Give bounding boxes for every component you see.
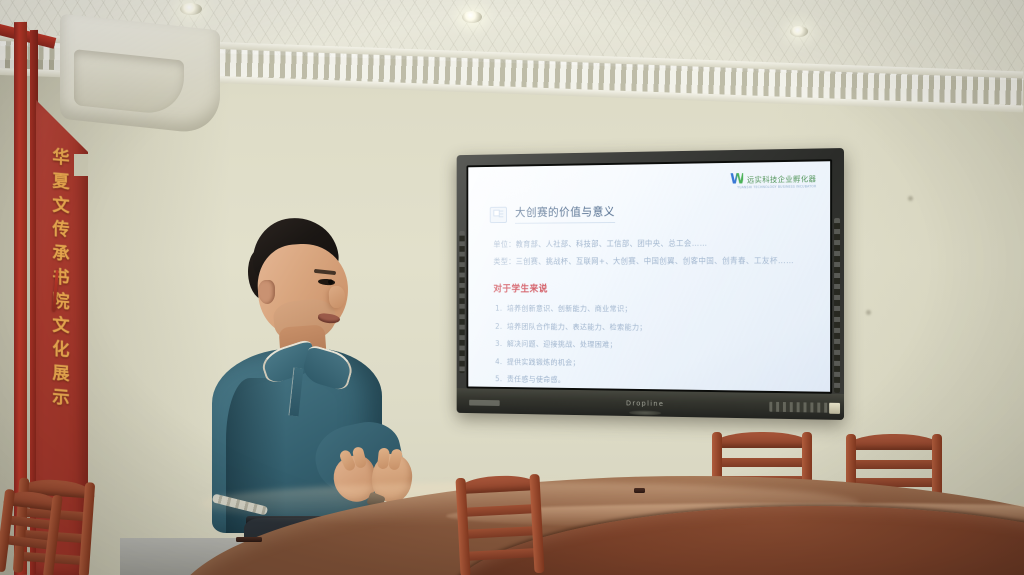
display-brand-label: Dropline [626, 399, 664, 407]
display-screen[interactable]: W 远实科技企业孵化器 YUANSHI TECHNOLOGY BUSINESS … [468, 161, 830, 392]
ear [258, 280, 275, 304]
ceiling-downlight [462, 11, 482, 23]
wall-blemish [908, 196, 913, 201]
banner-characters: 华 夏 文 传 承 书 院 文 化 展 示 [38, 148, 84, 409]
smart-display[interactable]: W 远实科技企业孵化器 YUANSHI TECHNOLOGY BUSINESS … [457, 148, 844, 420]
chair-slat [462, 504, 536, 517]
banner-char: 化 [53, 341, 70, 359]
display-side-logo [469, 400, 500, 406]
banner-char: 传 [53, 221, 70, 239]
slide-subheading: 对于学生来说 [493, 281, 547, 294]
list-number: 2. [495, 322, 502, 331]
slide-title: 大创赛的价值与意义 [515, 204, 615, 224]
chair[interactable] [0, 489, 63, 575]
list-item: 5.责任感与使命感。 [495, 374, 647, 387]
list-text: 培养团队合作能力、表达能力、检索能力； [507, 322, 647, 332]
list-text: 解决问题、迎接挑战、处理困难； [507, 339, 617, 349]
banner-char: 承 [53, 245, 70, 263]
banner-char: 夏 [53, 173, 70, 191]
banner-char: 展 [53, 365, 70, 383]
list-text: 培养创新意识、创新能力、商业常识； [507, 304, 632, 313]
chair[interactable] [455, 474, 544, 575]
display-side-ports-left [459, 231, 464, 373]
slide-title-row: 大创赛的价值与意义 [490, 204, 615, 224]
slide-meta-line: 单位：教育部、人社部、科技部、工信部、团中央、总工会…… [493, 237, 794, 249]
wall-blemish [140, 96, 145, 101]
display-control-panel[interactable] [769, 402, 830, 413]
company-logo: W 远实科技企业孵化器 YUANSHI TECHNOLOGY BUSINESS … [730, 171, 816, 186]
table-object[interactable] [634, 488, 645, 493]
banner-char: 文 [53, 197, 70, 215]
slide-meta-block: 单位：教育部、人社部、科技部、工信部、团中央、总工会…… 类型：三创赛、挑战杯、… [493, 237, 794, 273]
list-item: 4.提供实践锻炼的机会； [495, 356, 647, 368]
list-number: 3. [495, 339, 502, 348]
document-icon [490, 206, 507, 222]
logo-text: 远实科技企业孵化器 [747, 173, 816, 185]
ir-receiver-icon [629, 410, 661, 415]
chair-slat [718, 458, 806, 467]
chair-slat [464, 548, 538, 561]
ceiling-downlight [790, 26, 808, 37]
presentation-slide: W 远实科技企业孵化器 YUANSHI TECHNOLOGY BUSINESS … [468, 161, 830, 392]
list-item: 2.培养团队合作能力、表达能力、检索能力； [495, 321, 647, 333]
chair-crest [846, 434, 942, 450]
chair-crest [712, 432, 812, 448]
ceiling-downlight [180, 3, 202, 15]
meeting-room-photo: 华 夏 文 传 承 书 院 文 化 展 示 W 远实科技企业孵化器 YUANSH… [0, 0, 1024, 575]
wall-blemish [866, 310, 871, 315]
power-led-icon [829, 403, 840, 414]
chair-crest [455, 474, 540, 494]
chair-slat [852, 460, 936, 469]
logo-subtext: YUANSHI TECHNOLOGY BUSINESS INCUBATOR [737, 184, 816, 189]
list-text: 责任感与使命感。 [507, 375, 565, 384]
list-number: 5. [495, 374, 502, 383]
slide-bullet-list: 1.培养创新意识、创新能力、商业常识； 2.培养团队合作能力、表达能力、检索能力… [495, 303, 647, 392]
banner-char: 示 [53, 389, 70, 407]
table-object[interactable] [236, 537, 262, 542]
banner-char: 华 [53, 149, 70, 167]
list-item: 3.解决问题、迎接挑战、处理困难； [495, 338, 647, 350]
slide-meta-line: 类型：三创赛、挑战杯、互联网+、大创赛、中国创翼、创客中国、创青春、工友杯…… [493, 255, 794, 267]
chair-slat [463, 526, 537, 539]
list-number: 1. [495, 304, 502, 313]
list-number: 4. [495, 357, 502, 366]
list-item: 1.培养创新意识、创新能力、商业常识； [495, 303, 647, 314]
chair-post-right [932, 434, 942, 496]
display-side-ports-right [834, 218, 840, 393]
banner-char: 文 [53, 317, 70, 335]
list-text: 提供实践锻炼的机会； [507, 357, 580, 366]
